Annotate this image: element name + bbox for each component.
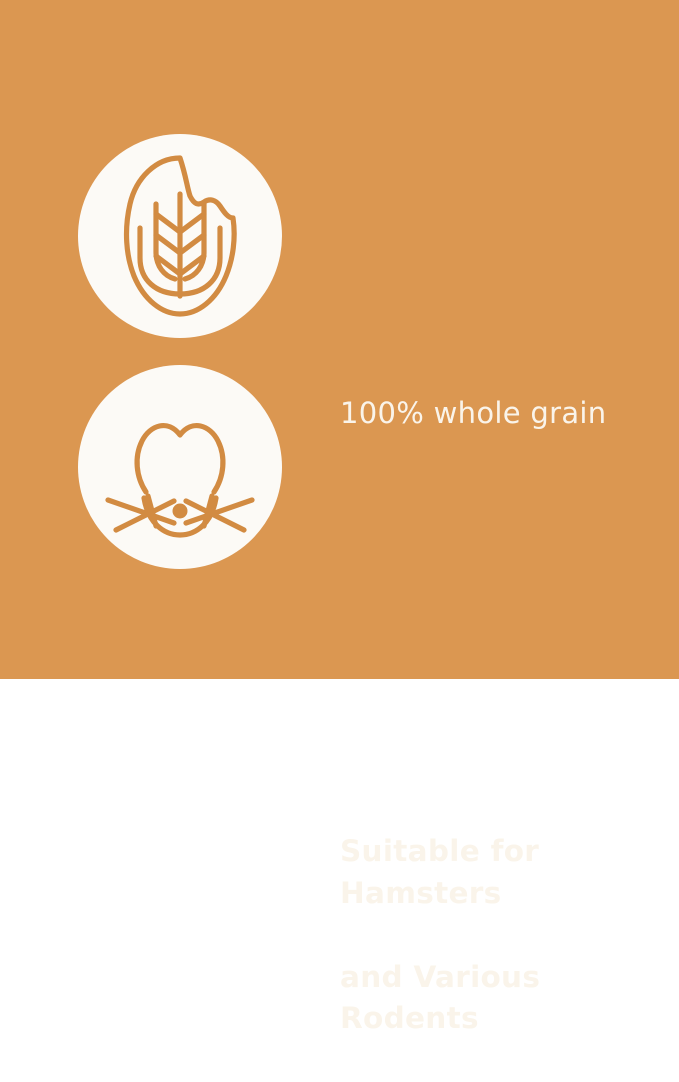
feature-row-whole-grain: 100% whole grain xyxy=(0,134,679,338)
hamster-rodent-face-icon xyxy=(78,365,282,569)
feature-label-line: and Various Rodents xyxy=(340,957,679,1041)
feature-highlights-card: 100% whole grain xyxy=(0,0,679,679)
wheat-grain-icon-badge xyxy=(78,134,282,338)
hamster-icon-badge xyxy=(78,365,282,569)
feature-label-suitable-rodents: Suitable for Hamsters and Various Rodent… xyxy=(340,789,679,1082)
feature-row-suitable-rodents: Suitable for Hamsters and Various Rodent… xyxy=(0,365,679,569)
feature-label-line: Suitable for Hamsters xyxy=(340,831,679,915)
wheat-grain-leaf-icon xyxy=(78,134,282,338)
